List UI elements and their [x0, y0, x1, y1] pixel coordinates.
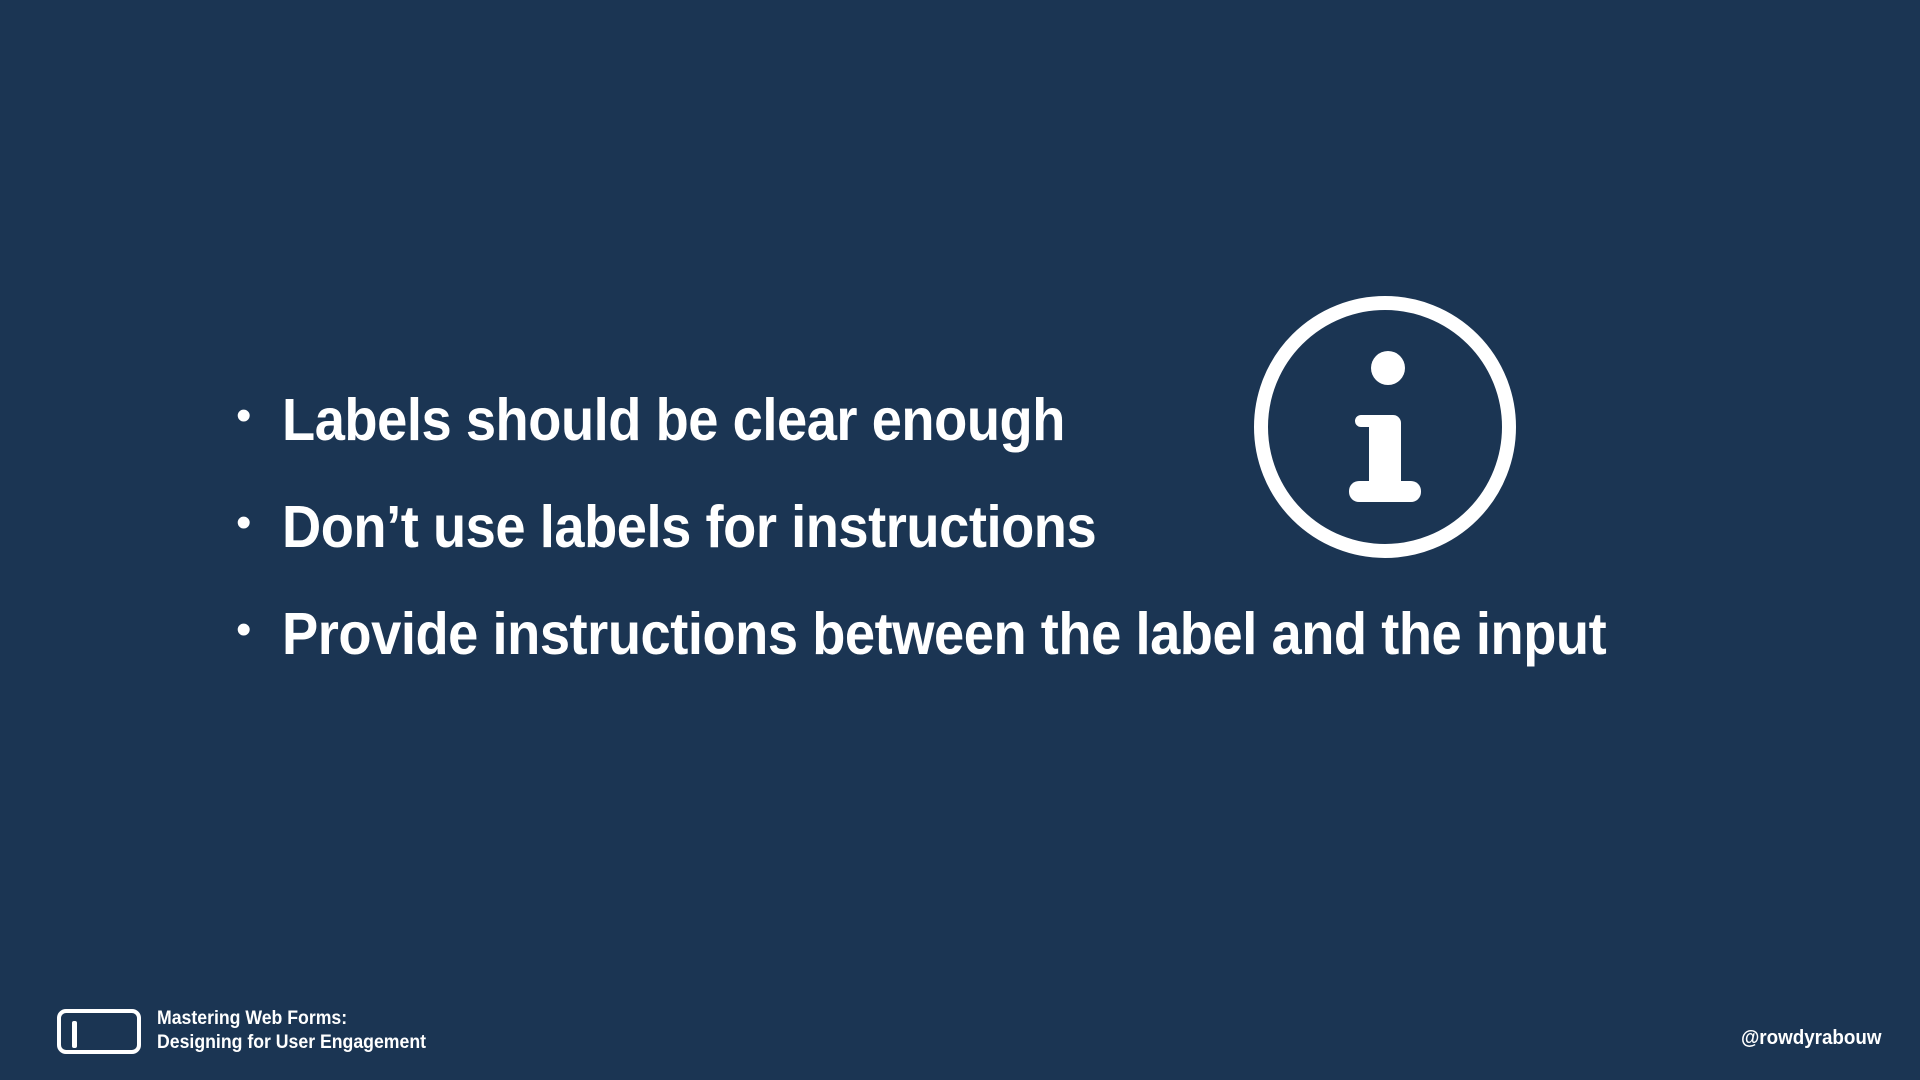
bullet-marker-icon: • — [236, 501, 282, 545]
bullet-text: Provide instructions between the label a… — [282, 599, 1606, 669]
info-i-stem — [1355, 415, 1401, 489]
slide-canvas: • Labels should be clear enough • Don’t … — [0, 0, 1920, 1080]
list-item: • Provide instructions between the label… — [236, 599, 1736, 706]
bullet-marker-icon: • — [236, 394, 282, 438]
text-cursor-icon — [72, 1021, 77, 1048]
footer-title-line-2: Designing for User Engagement — [157, 1031, 426, 1055]
info-circle-icon-svg — [1254, 296, 1516, 558]
info-i-dot — [1371, 351, 1405, 385]
info-i-foot — [1349, 481, 1421, 502]
social-handle: @rowdyrabouw — [1741, 1027, 1882, 1050]
input-field-logo — [57, 1009, 141, 1054]
bullet-text: Labels should be clear enough — [282, 385, 1065, 455]
bullet-text: Don’t use labels for instructions — [282, 492, 1096, 562]
info-circle-icon — [1254, 296, 1516, 558]
footer-title-line-1: Mastering Web Forms: — [157, 1007, 426, 1031]
bullet-marker-icon: • — [236, 608, 282, 652]
footer-title: Mastering Web Forms: Designing for User … — [157, 1007, 446, 1055]
footer-brand: Mastering Web Forms: Designing for User … — [57, 1007, 446, 1055]
